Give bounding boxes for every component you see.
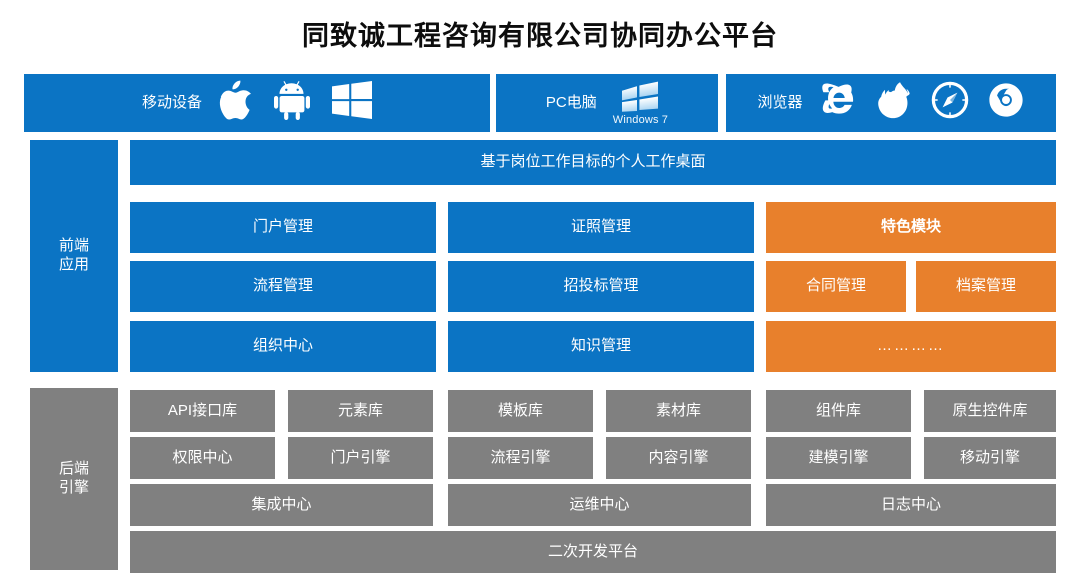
access-label-pc: PC电脑	[546, 94, 597, 113]
frontend-module-bidding[interactable]: 招投标管理	[448, 261, 754, 312]
layer-label-frontend: 前端 应用	[30, 140, 118, 372]
layer-label-frontend-line2: 应用	[59, 256, 89, 275]
frontend-module-workflow[interactable]: 流程管理	[130, 261, 436, 312]
backend-engine-portal[interactable]: 门户引擎	[288, 437, 433, 479]
backend-engine-mobile[interactable]: 移动引擎	[924, 437, 1056, 479]
page-title: 同致诚工程咨询有限公司协同办公平台	[0, 14, 1080, 53]
frontend-featured-header[interactable]: 特色模块	[766, 202, 1056, 253]
backend-lib-component[interactable]: 组件库	[766, 390, 911, 432]
layer-label-frontend-line1: 前端	[59, 237, 89, 256]
architecture-diagram: 同致诚工程咨询有限公司协同办公平台 移动设备	[0, 0, 1080, 582]
backend-secondary-development-platform[interactable]: 二次开发平台	[130, 531, 1056, 573]
access-label-browser: 浏览器	[757, 94, 802, 113]
backend-engine-workflow[interactable]: 流程引擎	[448, 437, 593, 479]
android-icon	[274, 80, 310, 126]
windows7-wordmark: Windows7	[613, 115, 668, 126]
layer-label-backend-line2: 引擎	[59, 479, 89, 498]
frontend-featured-contract[interactable]: 合同管理	[766, 261, 906, 312]
frontend-module-organization[interactable]: 组织中心	[130, 321, 436, 372]
safari-icon	[931, 81, 969, 125]
apple-icon	[218, 80, 252, 126]
firefox-icon	[875, 81, 913, 125]
access-segment-pc[interactable]: PC电脑	[496, 74, 718, 132]
backend-engine-permission[interactable]: 权限中心	[130, 437, 275, 479]
frontend-module-license[interactable]: 证照管理	[448, 202, 754, 253]
access-segment-mobile[interactable]: 移动设备	[24, 74, 490, 132]
frontend-module-portal[interactable]: 门户管理	[130, 202, 436, 253]
backend-lib-template[interactable]: 模板库	[448, 390, 593, 432]
chrome-icon	[987, 81, 1025, 125]
backend-center-integration[interactable]: 集成中心	[130, 484, 433, 526]
layer-label-backend-line1: 后端	[59, 460, 89, 479]
frontend-desktop-banner[interactable]: 基于岗位工作目标的个人工作桌面	[130, 140, 1056, 185]
windows7-logo-icon: Windows7	[613, 81, 668, 126]
backend-lib-native-control[interactable]: 原生控件库	[924, 390, 1056, 432]
layer-label-backend: 后端 引擎	[30, 388, 118, 570]
windows-icon	[332, 81, 372, 125]
browser-icon-group	[819, 81, 1025, 125]
backend-engine-modeling[interactable]: 建模引擎	[766, 437, 911, 479]
backend-engine-content[interactable]: 内容引擎	[606, 437, 751, 479]
mobile-icon-group	[218, 80, 372, 126]
backend-lib-api[interactable]: API接口库	[130, 390, 275, 432]
frontend-featured-more[interactable]: …………	[766, 321, 1056, 372]
backend-lib-element[interactable]: 元素库	[288, 390, 433, 432]
frontend-featured-archive[interactable]: 档案管理	[916, 261, 1056, 312]
access-label-mobile: 移动设备	[142, 94, 202, 113]
frontend-module-knowledge[interactable]: 知识管理	[448, 321, 754, 372]
backend-lib-material[interactable]: 素材库	[606, 390, 751, 432]
internet-explorer-icon	[819, 81, 857, 125]
backend-center-log[interactable]: 日志中心	[766, 484, 1056, 526]
access-segment-browser[interactable]: 浏览器	[726, 74, 1056, 132]
backend-center-operations[interactable]: 运维中心	[448, 484, 751, 526]
